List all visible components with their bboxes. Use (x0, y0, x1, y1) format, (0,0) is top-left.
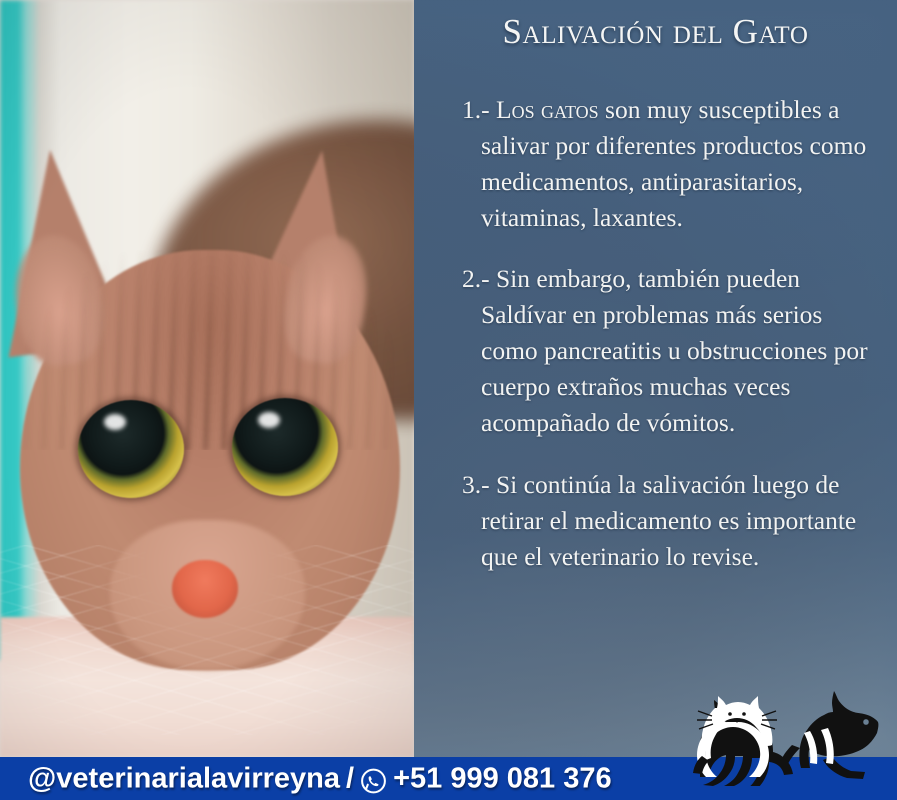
cat-eye-left (78, 400, 184, 498)
cat-portrait-photo (0, 0, 414, 757)
cat-whiskers-right (0, 545, 414, 735)
cat-and-dog-logo (682, 676, 887, 786)
instagram-handle[interactable]: @veterinarialavirreyna (28, 762, 340, 795)
list-item-point-2: 2.- Sin embargo, también pueden Saldívar… (462, 261, 885, 441)
contact-banner-text: @veterinarialavirreyna / +51 999 081 376 (28, 762, 612, 795)
text-panel: Salivación del Gato 1.- Los gatos son mu… (414, 0, 897, 757)
eye-glint (104, 414, 126, 430)
whatsapp-icon (360, 767, 387, 794)
list-item-point-3: 3.- Si continúa la salivación luego de r… (462, 467, 885, 575)
list-item-point-1: 1.- Los gatos son muy susceptibles a sal… (462, 92, 885, 236)
cat-forehead-stripes (20, 250, 400, 450)
cat-eye-right (232, 398, 338, 496)
page-title: Salivación del Gato (414, 12, 897, 52)
whatsapp-phone-number[interactable]: +51 999 081 376 (393, 762, 612, 795)
panel-content: Salivación del Gato 1.- Los gatos son mu… (414, 0, 897, 757)
eye-glint (258, 412, 280, 428)
poster-canvas: Salivación del Gato 1.- Los gatos son mu… (0, 0, 897, 800)
banner-separator: / (346, 762, 354, 795)
points-list: 1.- Los gatos son muy susceptibles a sal… (462, 66, 885, 597)
